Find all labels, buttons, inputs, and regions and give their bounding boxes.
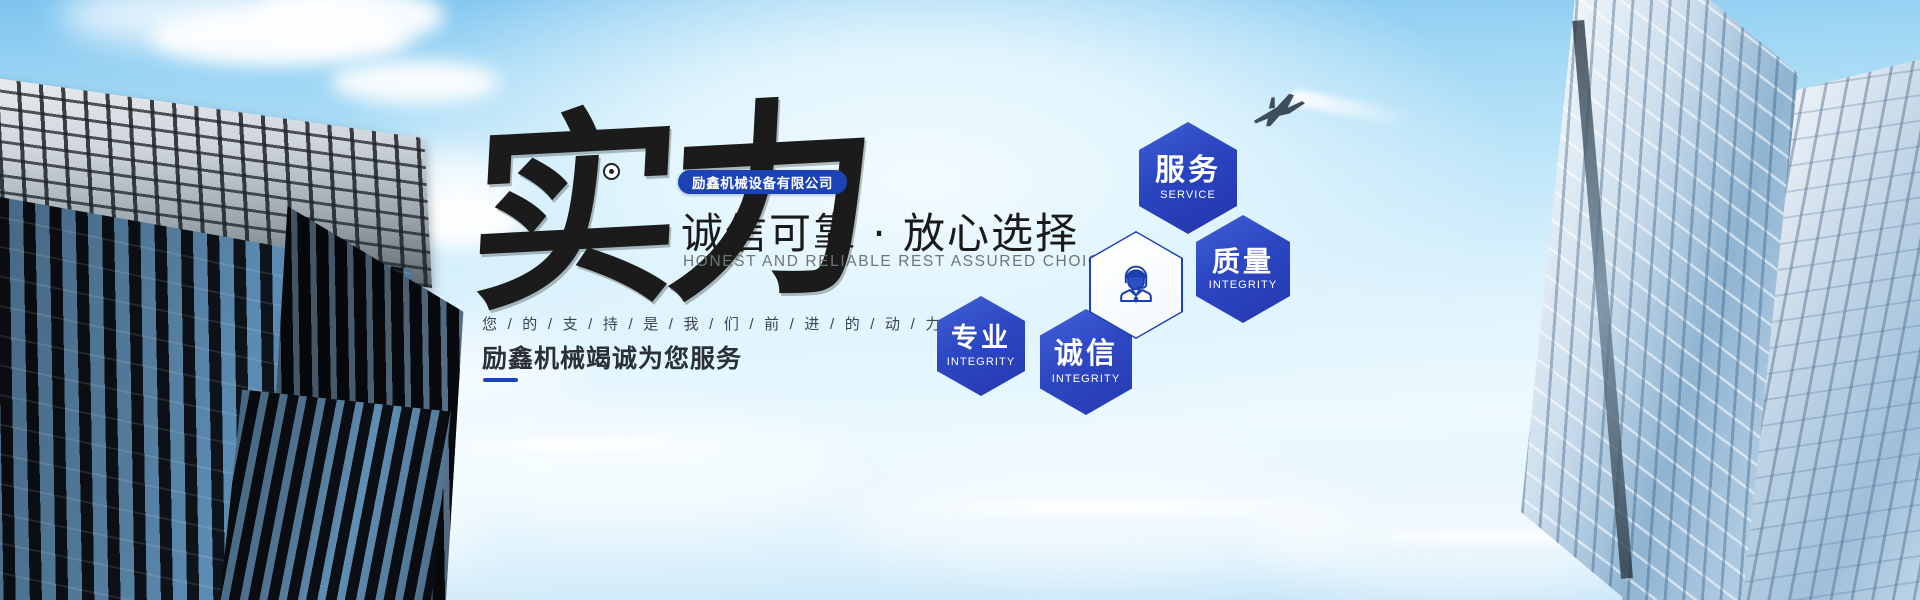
hexagon-label-cn: 质量 — [1212, 247, 1274, 276]
cloud-streak-decor — [900, 500, 1320, 514]
hexagon-label-en: INTEGRITY — [1209, 279, 1278, 291]
hexagon-label-cn: 服务 — [1155, 155, 1221, 187]
hexagon-label-en: SERVICE — [1160, 189, 1216, 201]
slogan-chinese: 诚信可靠 · 放心选择 — [681, 200, 1079, 261]
service-tagline: 励鑫机械竭诚为您服务 — [482, 339, 742, 375]
cloud-decor — [840, 455, 1360, 575]
office-tower-right-image — [1471, 0, 1920, 600]
cloud-decor — [60, 0, 380, 50]
support-tagline: 您 / 的 / 支 / 持 / 是 / 我 / 们 / 前 / 进 / 的 / … — [482, 313, 944, 334]
hexagon-label-en: INTEGRITY — [947, 356, 1016, 368]
hexagon-badge-quality[interactable]: 质量 INTEGRITY — [1196, 215, 1290, 323]
calligraphy-headline: 实力 — [465, 122, 696, 318]
customer-service-agent-icon — [1111, 258, 1161, 313]
hexagon-badge-professional[interactable]: 专业 INTEGRITY — [937, 296, 1025, 396]
hexagon-badge-agent[interactable] — [1089, 231, 1183, 339]
office-tower-secondary-image — [219, 390, 451, 600]
accent-underline — [483, 378, 518, 382]
company-name-badge: 励鑫机械设备有限公司 — [678, 170, 847, 194]
cloud-streak-decor — [430, 440, 730, 452]
airplane-icon — [1248, 92, 1308, 130]
hexagon-label-cn: 诚信 — [1054, 339, 1118, 369]
cloud-decor — [430, 420, 850, 530]
ink-dot-icon — [603, 163, 620, 180]
cloud-decor — [255, 0, 445, 46]
hexagon-badge-service[interactable]: 服务 SERVICE — [1139, 122, 1237, 234]
hexagon-label-cn: 专业 — [951, 324, 1011, 352]
hexagon-label-en: INTEGRITY — [1052, 373, 1121, 385]
promotional-banner: 实力 励鑫机械设备有限公司 诚信可靠 · 放心选择 HONEST AND REL… — [0, 0, 1920, 600]
slogan-english: HONEST AND RELIABLE REST ASSURED CHOICE — [683, 253, 1113, 271]
